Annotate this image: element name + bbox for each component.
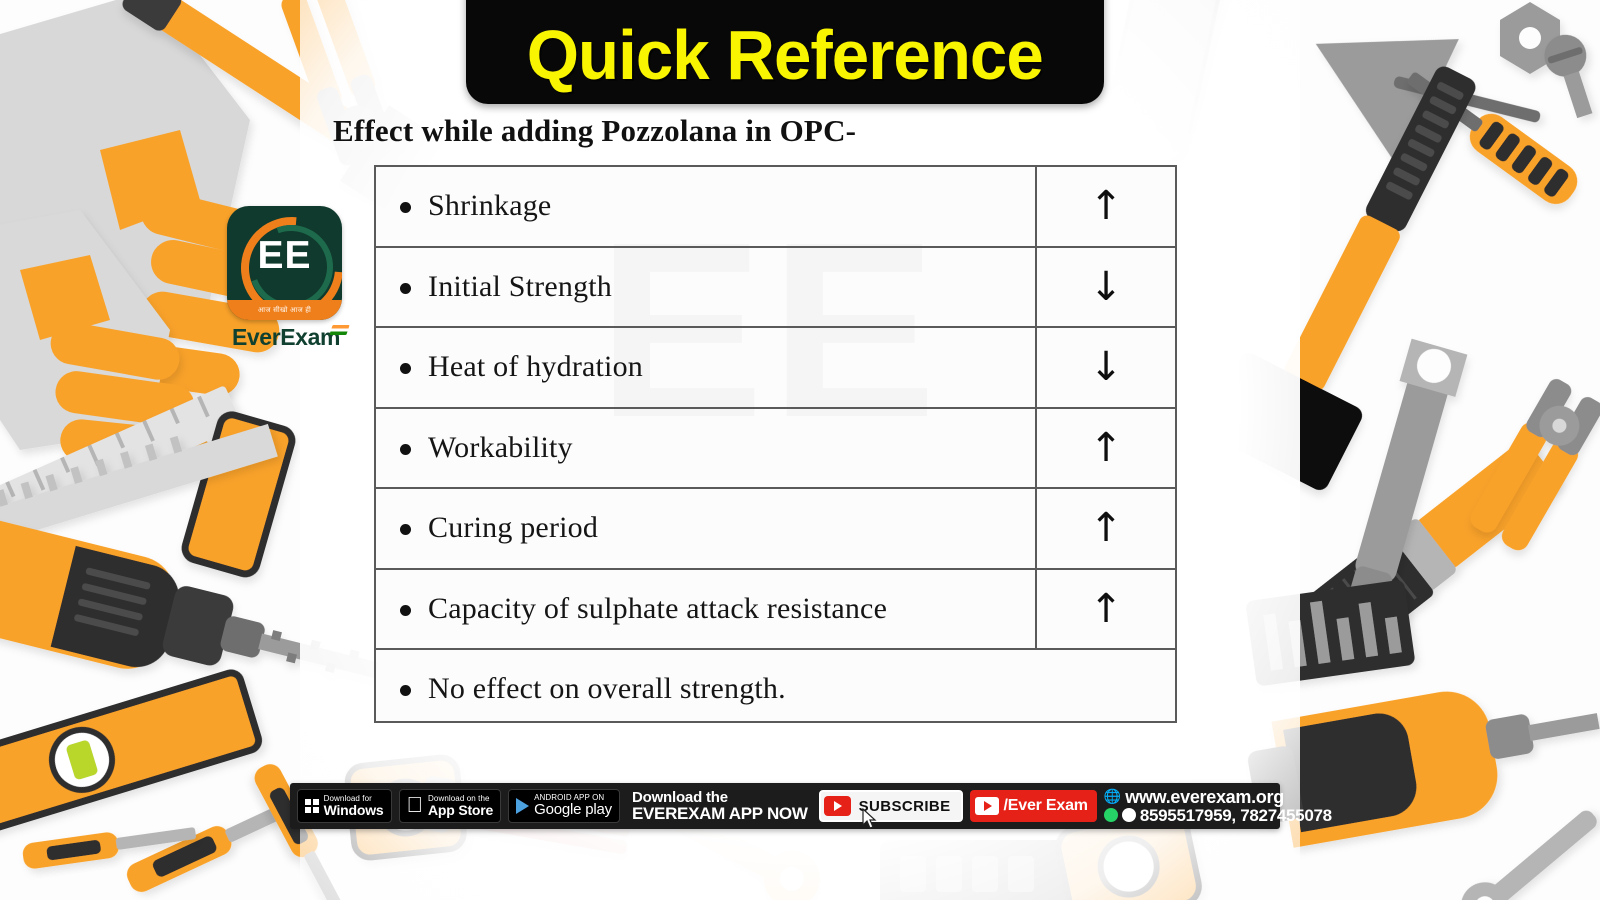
table-cell-label: Shrinkage [376, 167, 1035, 246]
table-row: Initial Strength ↓ [376, 248, 1175, 329]
logo-wordmark-text: EverExam [232, 324, 340, 350]
row-label: Workability [428, 431, 573, 465]
table-cell-label: Initial Strength [376, 248, 1035, 327]
bullet-icon [400, 524, 411, 535]
phone-line: 8595517959, 7827455078 [1104, 807, 1332, 825]
bullet-icon [400, 363, 411, 374]
effects-table: Shrinkage ↑ Initial Strength ↓ Heat of h… [374, 165, 1177, 723]
promo-line-2: EVEREXAM APP NOW [632, 805, 808, 822]
everexam-logo: EE आज सीखो आज ही EverExam [227, 206, 345, 351]
arrow-down-icon: ↓ [1035, 248, 1175, 327]
arrow-up-icon: ↑ [1035, 409, 1175, 488]
mouse-cursor [862, 808, 878, 830]
website-text: www.everexam.org [1125, 788, 1284, 807]
arrow-up-icon: ↑ [1035, 167, 1175, 246]
contact-info: 🌐 www.everexam.org 8595517959, 782745507… [1104, 788, 1336, 825]
logo-wordmark: EverExam [227, 324, 345, 351]
arrow-up-icon: ↑ [1035, 570, 1175, 649]
quick-reference-banner: Quick Reference [466, 0, 1104, 104]
bullet-icon [400, 444, 411, 455]
promo-footer-bar: Download for Windows  Download on the A… [290, 783, 1280, 829]
table-row: Capacity of sulphate attack resistance ↑ [376, 570, 1175, 651]
table-row: Workability ↑ [376, 409, 1175, 490]
page-title: Effect while adding Pozzolana in OPC- [333, 113, 856, 149]
apple-icon:  [407, 794, 424, 816]
table-row: Shrinkage ↑ [376, 167, 1175, 248]
row-label: Heat of hydration [428, 350, 643, 384]
table-cell-label: Workability [376, 409, 1035, 488]
badge-big-text: Windows [324, 803, 384, 817]
table-cell-label: Capacity of sulphate attack resistance [376, 570, 1035, 649]
logo-band: आज सीखो आज ही [227, 300, 342, 320]
google-play-icon [516, 798, 529, 814]
table-cell-label: Curing period [376, 489, 1035, 568]
table-cell-label: No effect on overall strength. [376, 650, 1175, 728]
bullet-icon [400, 202, 411, 213]
globe-icon: 🌐 [1104, 790, 1121, 804]
youtube-icon [975, 797, 999, 815]
logo-tile: EE आज सीखो आज ही [227, 206, 342, 320]
windows-icon [305, 799, 319, 813]
windows-store-badge[interactable]: Download for Windows [297, 789, 392, 823]
table-row-note: No effect on overall strength. [376, 650, 1175, 728]
phone-text: 8595517959, 7827455078 [1140, 807, 1332, 825]
youtube-icon [824, 796, 851, 816]
table-row: Curing period ↑ [376, 489, 1175, 570]
channel-label: /Ever Exam [1004, 797, 1088, 815]
logo-band-text: आज सीखो आज ही [258, 306, 311, 315]
subscribe-button[interactable]: SUBSCRIBE [819, 790, 963, 822]
promo-line-1: Download the [632, 790, 808, 805]
phone-icon [1122, 808, 1136, 822]
youtube-channel-button[interactable]: /Ever Exam [970, 790, 1097, 822]
banner-title: Quick Reference [527, 20, 1043, 104]
row-label: Shrinkage [428, 189, 551, 223]
row-label: Initial Strength [428, 270, 612, 304]
bullet-icon [400, 605, 411, 616]
arrow-down-icon: ↓ [1035, 328, 1175, 407]
whatsapp-icon [1104, 808, 1118, 822]
table-row: Heat of hydration ↓ [376, 328, 1175, 409]
app-store-badge[interactable]:  Download on the App Store [399, 789, 502, 823]
google-play-badge[interactable]: ANDROID APP ON Google play [508, 789, 620, 823]
badge-big-text: App Store [428, 803, 493, 817]
table-cell-label: Heat of hydration [376, 328, 1035, 407]
logo-monogram: EE [227, 234, 342, 278]
website-line[interactable]: 🌐 www.everexam.org [1104, 788, 1332, 807]
row-label: Curing period [428, 511, 598, 545]
row-label: Capacity of sulphate attack resistance [428, 592, 887, 626]
bullet-icon [400, 685, 411, 696]
arrow-up-icon: ↑ [1035, 489, 1175, 568]
promo-text: Download the EVEREXAM APP NOW [632, 790, 808, 822]
row-label: No effect on overall strength. [428, 672, 786, 706]
india-flag-icon [329, 325, 349, 335]
badge-big-text: Google play [534, 802, 612, 817]
bullet-icon [400, 283, 411, 294]
